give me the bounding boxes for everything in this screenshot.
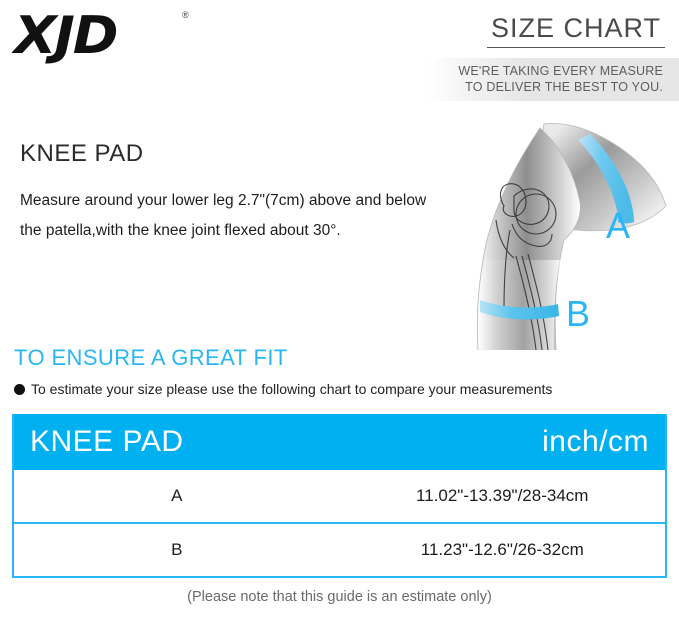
table-header-units: inch/cm: [340, 414, 666, 470]
knee-measurement-diagram: A B: [440, 110, 679, 350]
product-title: KNEE PAD: [20, 140, 450, 168]
row-value-a: 11.02"-13.39"/28-34cm: [340, 470, 666, 523]
product-copy: KNEE PAD Measure around your lower leg 2…: [20, 140, 450, 246]
tagline-line-2: TO DELIVER THE BEST TO YOU.: [439, 79, 663, 95]
diagram-label-b: B: [566, 293, 590, 334]
fit-note-text: To estimate your size please use the fol…: [31, 381, 552, 397]
page-header: XJD ® SIZE CHART WE'RE TAKING EVERY MEAS…: [0, 0, 679, 110]
size-table-container: KNEE PAD inch/cm A 11.02"-13.39"/28-34cm…: [12, 414, 667, 578]
bullet-icon: [14, 384, 25, 395]
size-table-head: KNEE PAD inch/cm: [14, 414, 665, 470]
registered-trademark-icon: ®: [182, 10, 189, 20]
brand-logo: XJD ®: [14, 8, 214, 64]
size-table-body: A 11.02"-13.39"/28-34cm B 11.23"-12.6"/2…: [14, 470, 665, 576]
fit-note: To estimate your size please use the fol…: [14, 379, 614, 400]
table-header-row: KNEE PAD inch/cm: [14, 414, 665, 470]
size-table: KNEE PAD inch/cm A 11.02"-13.39"/28-34cm…: [14, 414, 665, 576]
row-key-b: B: [14, 523, 340, 576]
table-row: A 11.02"-13.39"/28-34cm: [14, 470, 665, 523]
product-info-section: KNEE PAD Measure around your lower leg 2…: [0, 110, 679, 345]
logo-wordmark: XJD: [14, 8, 226, 64]
header-right-block: SIZE CHART WE'RE TAKING EVERY MEASURE TO…: [429, 12, 679, 101]
fit-section: TO ENSURE A GREAT FIT To estimate your s…: [0, 345, 679, 400]
fit-heading: TO ENSURE A GREAT FIT: [14, 345, 679, 371]
table-header-product: KNEE PAD: [14, 414, 340, 470]
row-value-b: 11.23"-12.6"/26-32cm: [340, 523, 666, 576]
table-row: B 11.23"-12.6"/26-32cm: [14, 523, 665, 576]
product-description: Measure around your lower leg 2.7"(7cm) …: [20, 186, 450, 246]
page-title: SIZE CHART: [487, 12, 665, 48]
estimate-disclaimer: (Please note that this guide is an estim…: [0, 589, 679, 605]
tagline-band: WE'RE TAKING EVERY MEASURE TO DELIVER TH…: [429, 58, 679, 101]
row-key-a: A: [14, 470, 340, 523]
diagram-label-a: A: [606, 205, 630, 246]
tagline-line-1: WE'RE TAKING EVERY MEASURE: [439, 63, 663, 79]
